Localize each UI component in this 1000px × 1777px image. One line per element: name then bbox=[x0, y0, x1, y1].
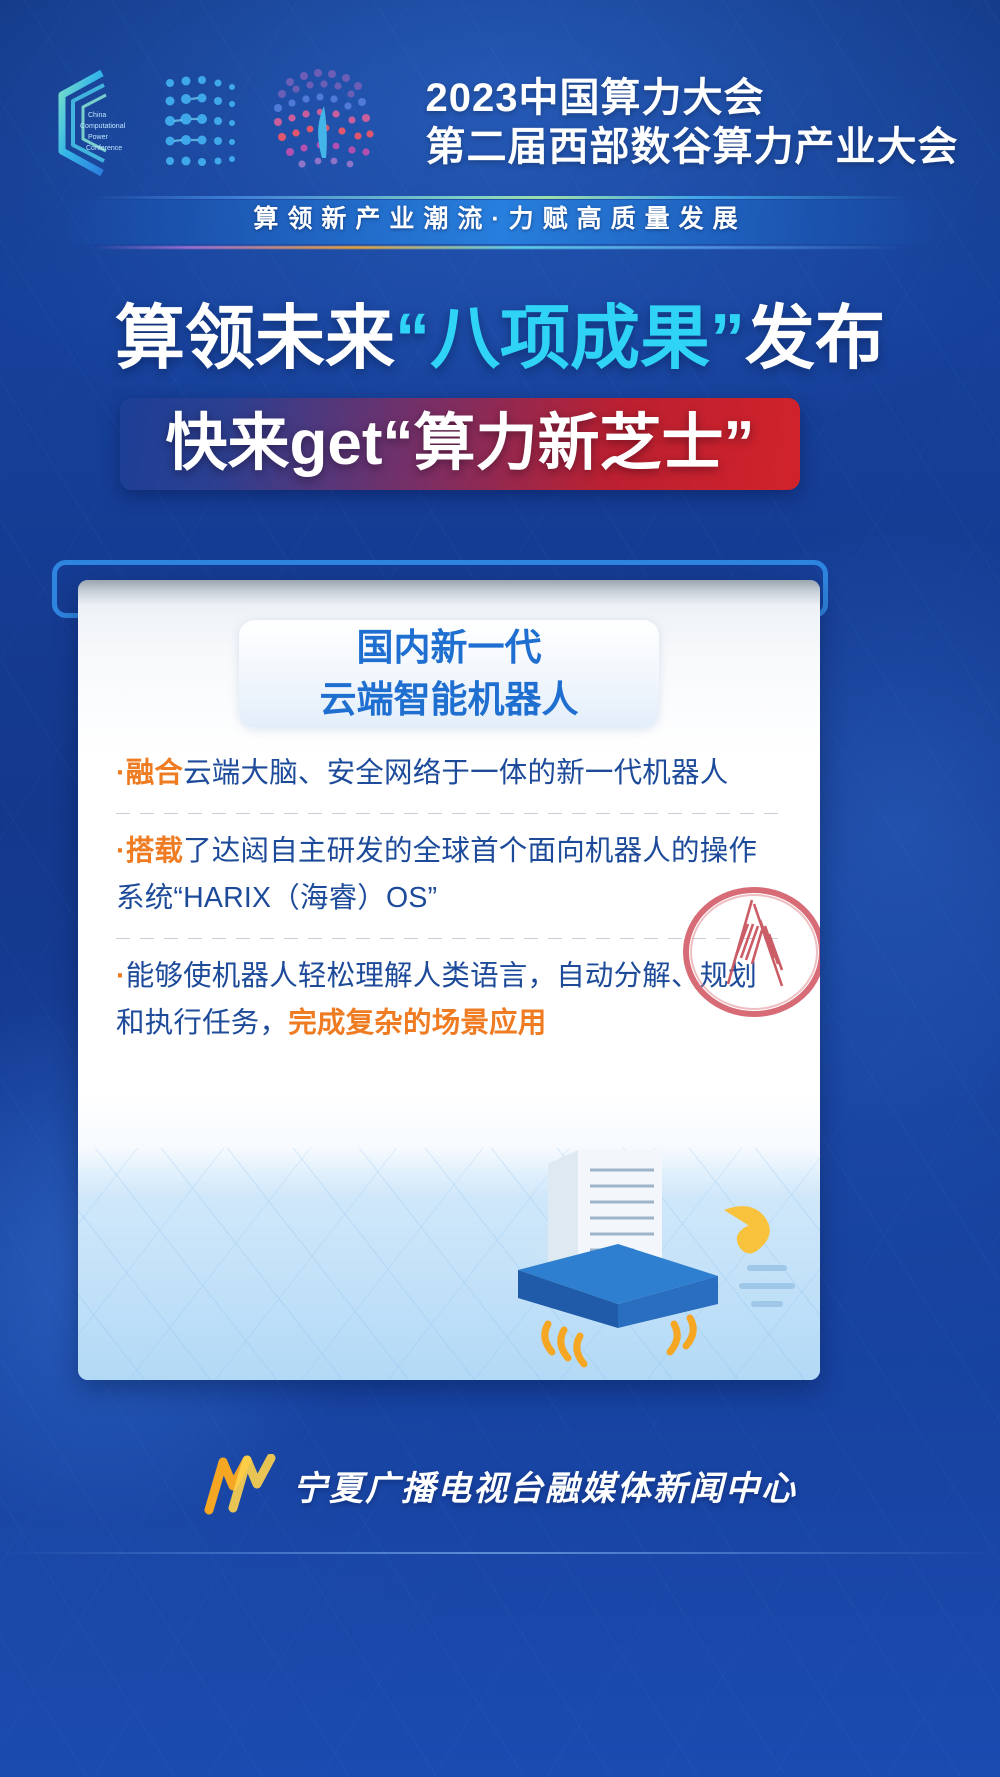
svg-text:Computational: Computational bbox=[80, 123, 126, 130]
main-title-part1: 算领未来 bbox=[115, 299, 395, 377]
bullet-highlight: 搭载 bbox=[126, 835, 183, 867]
document-server-illustration bbox=[518, 1150, 792, 1364]
conference-title-line1: 2023中国算力大会 bbox=[426, 76, 959, 121]
bullet-text: 云端大脑、安全网络于一体的新一代机器人 bbox=[183, 757, 728, 789]
card-illustration bbox=[78, 1148, 820, 1380]
bullet-highlight: 融合 bbox=[126, 757, 183, 789]
svg-text:China: China bbox=[88, 112, 106, 119]
card-inner: 国内新一代 云端智能机器人 ·融合云端大脑、安全网络于一体的新一代机器人 ·搭载… bbox=[78, 580, 820, 1380]
card-title-line1: 国内新一代 bbox=[357, 623, 542, 673]
header: China Computational Power Conference bbox=[0, 58, 1000, 188]
ningxia-n-logo-icon bbox=[203, 1454, 277, 1516]
card-title-pill: 国内新一代 云端智能机器人 bbox=[239, 620, 659, 728]
bullet-item: ·能够使机器人轻松理解人类语言，自动分解、规划和执行任务，完成复杂的场景应用 bbox=[116, 953, 784, 1047]
slogan-rule-bottom bbox=[92, 246, 908, 249]
bullet-marker: · bbox=[116, 757, 126, 789]
svg-text:Power: Power bbox=[88, 134, 109, 141]
bullet-text: 了达闼自主研发的全球首个面向机器人的操作系统“HARIX（海睿）OS” bbox=[116, 835, 757, 914]
bullet-divider bbox=[116, 813, 784, 814]
svg-text:Conference: Conference bbox=[86, 145, 122, 152]
card-bullet-list: ·融合云端大脑、安全网络于一体的新一代机器人 ·搭载了达闼自主研发的全球首个面向… bbox=[116, 750, 784, 1047]
slogan-band: 算领新产业潮流·力赋高质量发展 bbox=[0, 196, 1000, 248]
main-title-part3: 发布 bbox=[745, 299, 885, 377]
bullet-highlight: 完成复杂的场景应用 bbox=[288, 1007, 546, 1039]
footer-organization-name: 宁夏广播电视台融媒体新闻中心 bbox=[293, 1461, 797, 1510]
main-title-line1: 算领未来“八项成果”发布 bbox=[0, 296, 1000, 380]
card-title-line2: 云端智能机器人 bbox=[320, 675, 579, 725]
result-card: 国内新一代 云端智能机器人 ·融合云端大脑、安全网络于一体的新一代机器人 ·搭载… bbox=[78, 580, 820, 1380]
footer: 宁夏广播电视台融媒体新闻中心 bbox=[0, 1430, 1000, 1540]
main-title-line2-banner: 快来get“算力新芝士” bbox=[120, 398, 800, 490]
poster-root: China Computational Power Conference bbox=[0, 0, 1000, 1777]
slogan-rule-top bbox=[90, 196, 910, 199]
bullet-marker: · bbox=[116, 835, 126, 867]
slogan-text: 算领新产业潮流·力赋高质量发展 bbox=[0, 202, 1000, 236]
bullet-item: ·搭载了达闼自主研发的全球首个面向机器人的操作系统“HARIX（海睿）OS” bbox=[116, 828, 784, 922]
conference-dotgrid-icon bbox=[162, 71, 240, 175]
footer-rule bbox=[0, 1552, 1000, 1554]
conference-fan-logo-icon bbox=[262, 62, 386, 184]
main-title-line2: 快来get“算力新芝士” bbox=[120, 398, 800, 490]
bullet-item: ·融合云端大脑、安全网络于一体的新一代机器人 bbox=[116, 750, 784, 797]
header-title-group: 2023中国算力大会 第二届西部数谷算力产业大会 bbox=[426, 76, 959, 170]
bullet-marker: · bbox=[116, 960, 126, 992]
bullet-divider bbox=[116, 938, 784, 939]
card-title: 国内新一代 云端智能机器人 bbox=[239, 620, 659, 728]
main-title-part2: “八项成果” bbox=[395, 299, 745, 377]
conference-title-line2: 第二届西部数谷算力产业大会 bbox=[426, 125, 959, 170]
conference-hexagon-logo-icon: China Computational Power Conference bbox=[42, 67, 150, 179]
